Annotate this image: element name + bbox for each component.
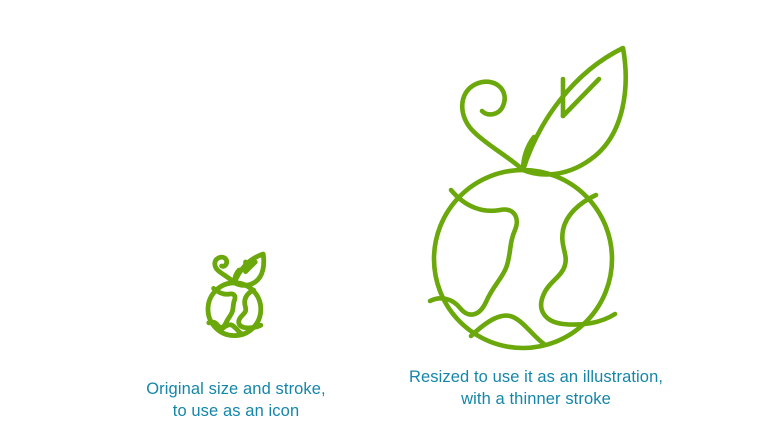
earth-leaf-illustration (396, 10, 676, 360)
caption-line-2: to use as an icon (146, 400, 326, 422)
slide-canvas: Original size and stroke, to use as an i… (0, 0, 782, 446)
caption-original-icon: Original size and stroke, to use as an i… (146, 378, 326, 423)
earth-leaf-icon (188, 246, 284, 342)
tendril-curl (215, 257, 235, 283)
caption-line-1: Original size and stroke, (146, 378, 326, 400)
leaf-vein-branch (563, 79, 599, 116)
continent-right (541, 195, 615, 325)
leaf-blade (523, 48, 626, 174)
caption-line-1: Resized to use it as an illustration, (409, 366, 663, 388)
panel-resized-illustration: Resized to use it as an illustration, wi… (386, 10, 686, 411)
caption-resized-illustration: Resized to use it as an illustration, wi… (409, 366, 663, 411)
tendril-curl (462, 82, 523, 170)
panel-original-icon: Original size and stroke, to use as an i… (96, 246, 376, 423)
caption-line-2: with a thinner stroke (409, 388, 663, 410)
